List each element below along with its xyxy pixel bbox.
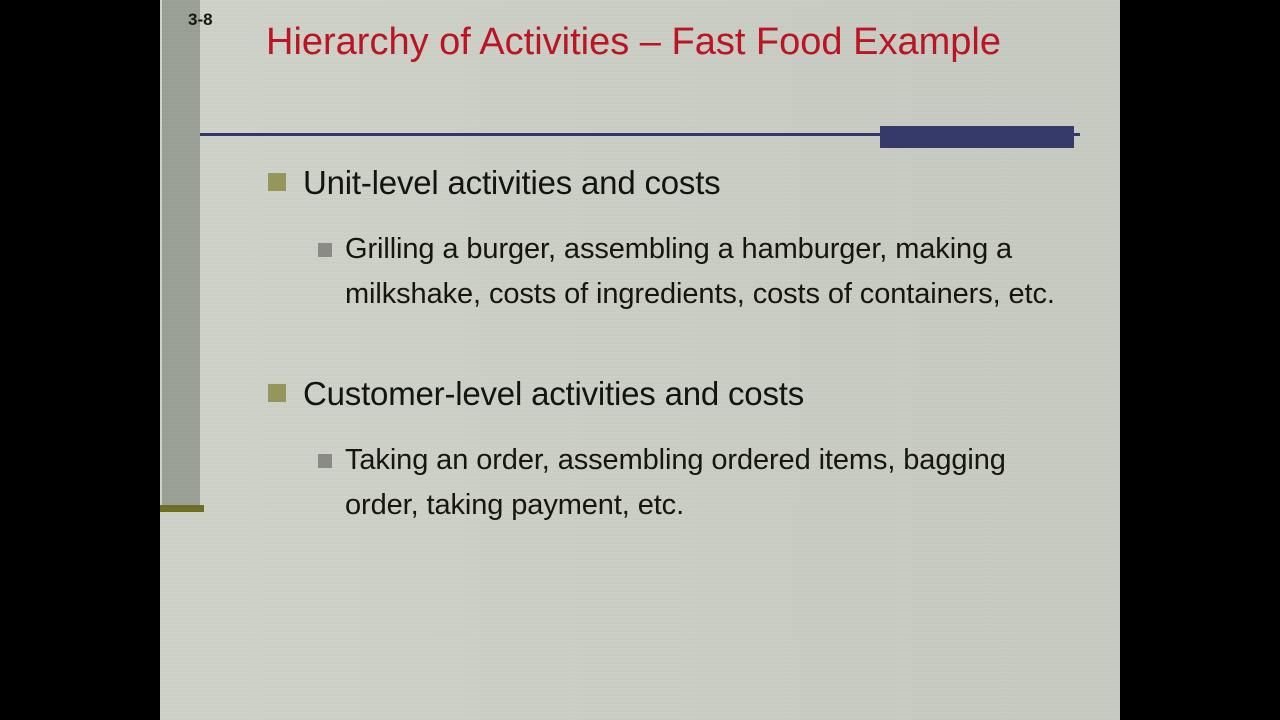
bullet-square-icon (268, 384, 286, 402)
bullet-level2: Grilling a burger, assembling a hamburge… (160, 227, 1120, 317)
title-divider-accent-block (880, 126, 1074, 148)
bullet-level1: Unit-level activities and costs (160, 160, 1120, 205)
bullet-level1-label: Customer-level activities and costs (303, 375, 804, 412)
spacer (160, 416, 1120, 438)
bullet-level2-label: Taking an order, assembling ordered item… (345, 444, 1006, 521)
screen: 3-8 Hierarchy of Activities – Fast Food … (0, 0, 1280, 720)
slide-number: 3-8 (188, 10, 213, 30)
page-title: Hierarchy of Activities – Fast Food Exam… (266, 16, 1056, 68)
slide-body: Unit-level activities and costs Grilling… (160, 160, 1120, 528)
bullet-group-unit-level: Unit-level activities and costs Grilling… (160, 160, 1120, 317)
bullet-level2-label: Grilling a burger, assembling a hamburge… (345, 233, 1055, 310)
spacer (160, 205, 1120, 227)
spacer (160, 317, 1120, 371)
bullet-level2: Taking an order, assembling ordered item… (160, 438, 1120, 528)
presentation-slide: 3-8 Hierarchy of Activities – Fast Food … (160, 0, 1120, 720)
bullet-group-customer-level: Customer-level activities and costs Taki… (160, 371, 1120, 528)
sub-bullet-square-icon (318, 243, 332, 257)
bullet-square-icon (268, 173, 286, 191)
bullet-level1-label: Unit-level activities and costs (303, 164, 720, 201)
bullet-level1: Customer-level activities and costs (160, 371, 1120, 416)
sub-bullet-square-icon (318, 454, 332, 468)
